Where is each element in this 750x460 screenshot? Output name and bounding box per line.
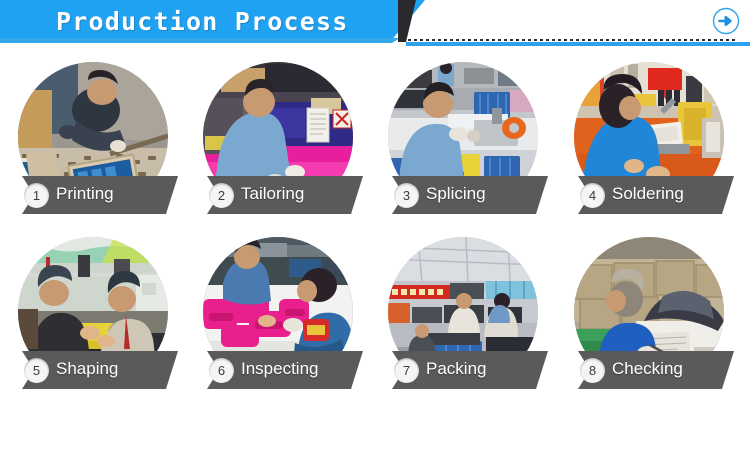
process-step-6-number: 6: [209, 358, 234, 383]
page-title: Production Process: [56, 7, 349, 36]
process-step-6-label: Inspecting: [241, 359, 319, 379]
page-header: Production Process: [0, 0, 750, 46]
process-step-5-number: 5: [24, 358, 49, 383]
process-step-4[interactable]: 4 Soldering: [556, 54, 741, 229]
header-dotted-rule: [408, 39, 738, 41]
arrow-right-circle-icon[interactable]: [712, 7, 740, 35]
process-step-2[interactable]: 2 Tailoring: [185, 54, 370, 229]
process-step-3-label: Splicing: [426, 184, 486, 204]
process-step-4-label: Soldering: [612, 184, 684, 204]
process-step-3-number: 3: [394, 183, 419, 208]
process-step-2-number: 2: [209, 183, 234, 208]
process-step-6[interactable]: 6 Inspecting: [185, 229, 370, 404]
process-step-5-label: Shaping: [56, 359, 118, 379]
process-step-1-number: 1: [24, 183, 49, 208]
process-step-5[interactable]: 5 Shaping: [0, 229, 185, 404]
process-step-7-label: Packing: [426, 359, 486, 379]
header-blue-band-shadow: [0, 38, 400, 43]
process-step-8-label: Checking: [612, 359, 683, 379]
process-step-4-number: 4: [580, 183, 605, 208]
process-step-8[interactable]: 8 Checking: [556, 229, 741, 404]
process-row-2: 5 Shaping: [0, 229, 750, 404]
process-step-1-label: Printing: [56, 184, 114, 204]
process-step-3[interactable]: 3 Splicing: [370, 54, 555, 229]
process-grid: 1 Printing: [0, 46, 750, 426]
process-step-7[interactable]: 7 Packing: [370, 229, 555, 404]
process-row-1: 1 Printing: [0, 54, 750, 229]
process-step-1[interactable]: 1 Printing: [0, 54, 185, 229]
process-step-8-number: 8: [580, 358, 605, 383]
process-step-7-number: 7: [394, 358, 419, 383]
process-step-2-label: Tailoring: [241, 184, 304, 204]
